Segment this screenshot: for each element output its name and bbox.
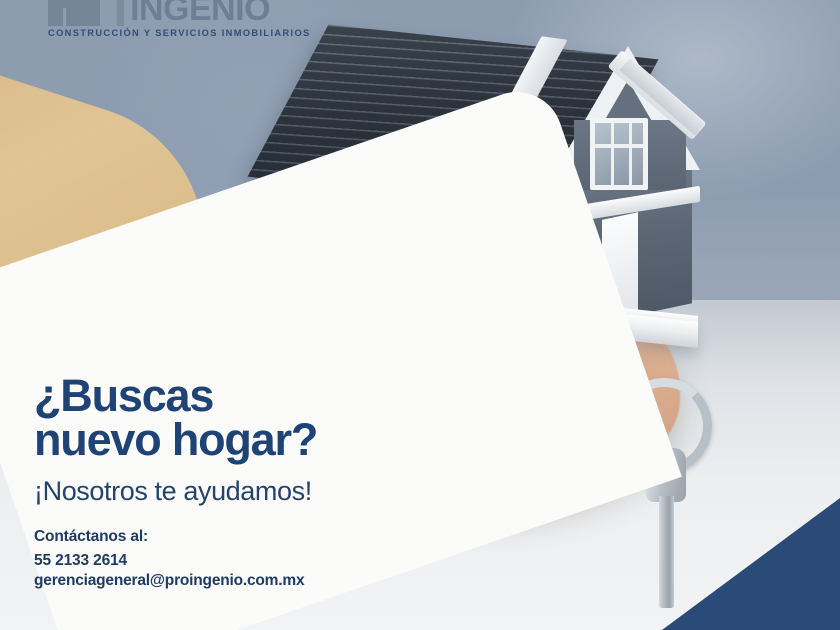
promo-banner: INGENIO CONSTRUCCIÓN Y SERVICIOS INMOBIL… — [0, 0, 840, 630]
house-window-gable — [590, 118, 648, 190]
brand-logo[interactable]: INGENIO CONSTRUCCIÓN Y SERVICIOS INMOBIL… — [48, 0, 348, 46]
contact-phone[interactable]: 55 2133 2614 — [34, 549, 494, 573]
headline-line-2: nuevo hogar? — [34, 418, 494, 462]
navy-corner-triangle — [662, 498, 840, 630]
contact-info: Contáctanos al: 55 2133 2614 gerenciagen… — [34, 525, 494, 590]
logo-wordmark: INGENIO — [130, 0, 270, 26]
copy-block: ¿Buscas nuevo hogar? ¡Nosotros te ayudam… — [34, 374, 494, 590]
window-mullion — [590, 144, 648, 148]
contact-email[interactable]: gerenciageneral@proingenio.com.mx — [34, 572, 494, 590]
logo-lockup: INGENIO — [48, 0, 348, 26]
logo-tagline: CONSTRUCCIÓN Y SERVICIOS INMOBILIARIOS — [48, 28, 348, 38]
contact-label: Contáctanos al: — [34, 525, 494, 549]
subheadline: ¡Nosotros te ayudamos! — [34, 476, 494, 507]
headline: ¿Buscas nuevo hogar? — [34, 374, 494, 462]
proingenio-monogram-icon — [48, 0, 124, 26]
